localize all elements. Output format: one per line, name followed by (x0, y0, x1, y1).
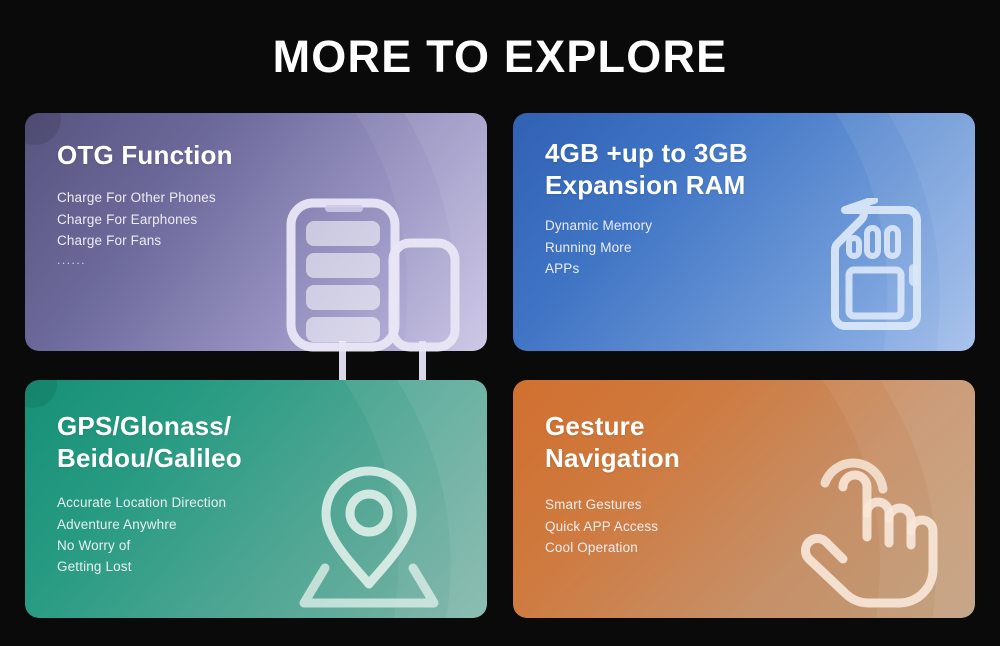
card-feature-item: Smart Gestures (545, 494, 975, 515)
card-content-otg: OTG Function Charge For Other Phones Cha… (25, 113, 487, 270)
card-feature-item: Charge For Fans (57, 230, 487, 251)
card-feature-item: Dynamic Memory (545, 215, 975, 236)
more-to-explore-page: MORE TO EXPLORE (0, 0, 1000, 646)
card-content-gnss: GPS/Glonass/ Beidou/Galileo Accurate Loc… (25, 380, 487, 578)
feature-card-otg-function[interactable]: OTG Function Charge For Other Phones Cha… (25, 113, 487, 351)
card-feature-list-gnss: Accurate Location Direction Adventure An… (57, 492, 487, 577)
card-feature-list-ram: Dynamic Memory Running More APPs (545, 215, 975, 279)
card-feature-item: Running More (545, 237, 975, 258)
card-feature-list-gesture: Smart Gestures Quick APP Access Cool Ope… (545, 494, 975, 558)
card-feature-item: Quick APP Access (545, 516, 975, 537)
card-feature-item-ellipsis: ...... (57, 251, 487, 270)
card-feature-item: Charge For Other Phones (57, 187, 487, 208)
card-content-ram: 4GB +up to 3GB Expansion RAM Dynamic Mem… (513, 113, 975, 279)
card-title-gesture: Gesture Navigation (545, 410, 975, 474)
card-title-otg: OTG Function (57, 139, 487, 171)
card-title-ram: 4GB +up to 3GB Expansion RAM (545, 137, 975, 201)
card-content-gesture: Gesture Navigation Smart Gestures Quick … (513, 380, 975, 558)
card-feature-item: Accurate Location Direction (57, 492, 487, 513)
page-title: MORE TO EXPLORE (0, 34, 1000, 79)
card-feature-item: Cool Operation (545, 537, 975, 558)
card-feature-list-otg: Charge For Other Phones Charge For Earph… (57, 187, 487, 270)
card-feature-item: APPs (545, 258, 975, 279)
card-title-gnss: GPS/Glonass/ Beidou/Galileo (57, 410, 487, 474)
card-feature-item: Charge For Earphones (57, 209, 487, 230)
feature-card-grid: OTG Function Charge For Other Phones Cha… (25, 113, 975, 618)
card-feature-item: No Worry of (57, 535, 487, 556)
feature-card-expansion-ram[interactable]: 4GB +up to 3GB Expansion RAM Dynamic Mem… (513, 113, 975, 351)
card-feature-item: Getting Lost (57, 556, 487, 577)
card-feature-item: Adventure Anywhre (57, 514, 487, 535)
feature-card-gnss[interactable]: GPS/Glonass/ Beidou/Galileo Accurate Loc… (25, 380, 487, 618)
feature-card-gesture-navigation[interactable]: Gesture Navigation Smart Gestures Quick … (513, 380, 975, 618)
